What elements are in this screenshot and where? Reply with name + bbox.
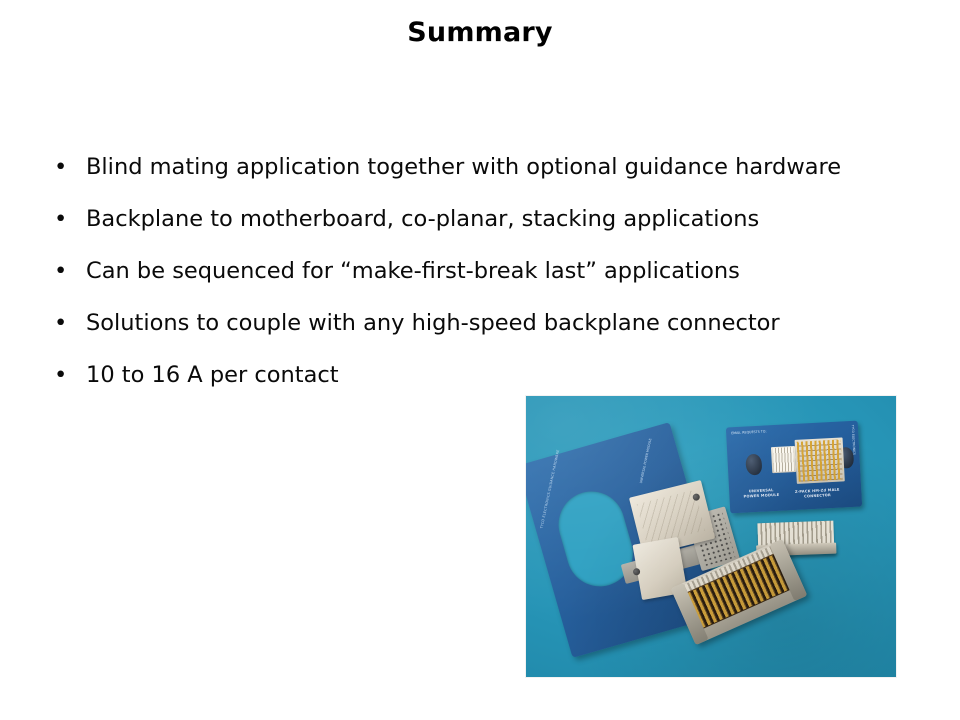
list-item-text: Solutions to couple with any high-speed … — [86, 310, 780, 336]
card-power-module-sample — [771, 446, 796, 473]
card-gold-contact-array — [795, 437, 845, 483]
card-label-male-connector: Z-PACK HM-Zd MALE CONNECTOR — [791, 487, 843, 499]
list-item-text: 10 to 16 A per contact — [86, 362, 339, 388]
list-item: • Backplane to motherboard, co-planar, s… — [50, 207, 920, 231]
summary-bullet-list: • Blind mating application together with… — [50, 155, 920, 415]
list-item-text: Backplane to motherboard, co-planar, sta… — [86, 206, 759, 232]
bullet-marker-icon: • — [54, 155, 67, 179]
card-header-text: EMAIL REQUESTS TO: — [731, 429, 767, 435]
bullet-marker-icon: • — [54, 207, 67, 231]
list-item: • 10 to 16 A per contact — [50, 363, 920, 387]
list-item: • Blind mating application together with… — [50, 155, 920, 179]
list-item: • Solutions to couple with any high-spee… — [50, 311, 920, 335]
bullet-marker-icon: • — [54, 363, 67, 387]
list-item-text: Can be sequenced for “make-first-break l… — [86, 258, 740, 284]
page-title: Summary — [0, 16, 960, 50]
sample-display-card: EMAIL REQUESTS TO: TYCO ELECTRONICS UNIV… — [726, 421, 862, 514]
product-photo: TYCO ELECTRONICS GUIDANCE HARDWARE UNIVE… — [526, 396, 896, 677]
list-item-text: Blind mating application together with o… — [86, 154, 841, 180]
slide-canvas: Summary • Blind mating application toget… — [0, 0, 960, 720]
carrier-plate-edge-text: UNIVERSAL POWER MODULE — [639, 414, 657, 483]
card-guide-pin — [745, 454, 762, 476]
list-item: • Can be sequenced for “make-first-break… — [50, 259, 920, 283]
bullet-marker-icon: • — [54, 259, 67, 283]
bullet-marker-icon: • — [54, 311, 67, 335]
card-label-power-module: UNIVERSAL POWER MODULE — [743, 488, 779, 499]
